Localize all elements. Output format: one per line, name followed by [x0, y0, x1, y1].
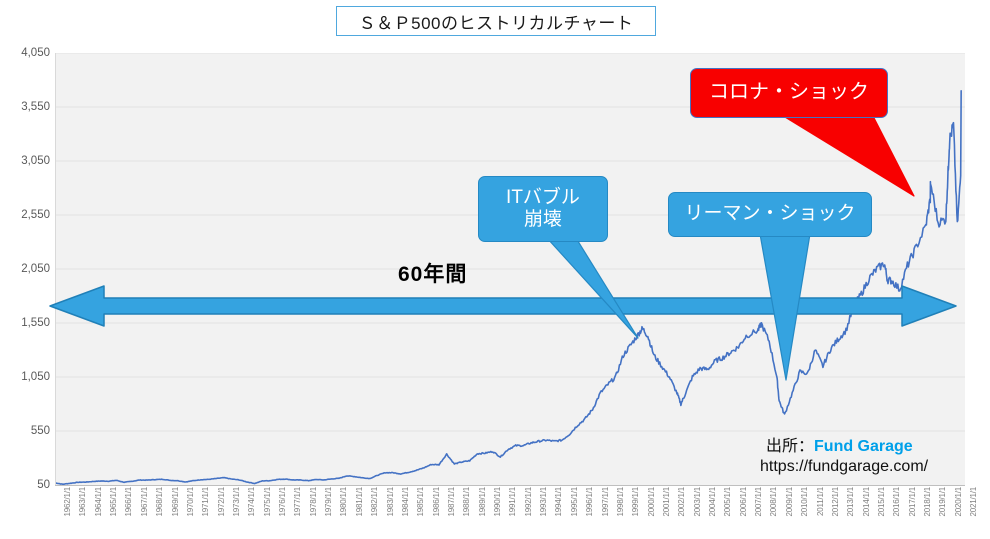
- x-axis-tick-label: 1971/1/1: [201, 487, 210, 517]
- callout-it-bubble-text: ITバブル 崩壊: [506, 187, 580, 232]
- x-axis-tick-label: 2000/1/1: [647, 487, 656, 517]
- x-axis-tick-label: 2006/1/1: [739, 487, 748, 517]
- x-axis-tick-label: 2003/1/1: [693, 487, 702, 517]
- x-axis-tick-label: 1968/1/1: [155, 487, 164, 517]
- x-axis-tick-label: 1992/1/1: [524, 487, 533, 517]
- page-title: Ｓ＆Ｐ500のヒストリカルチャート: [336, 6, 656, 36]
- callout-it-bubble-line2: 崩壊: [524, 209, 562, 230]
- y-axis-tick-label: 2,550: [2, 209, 50, 221]
- x-axis-tick-label: 1979/1/1: [324, 487, 333, 517]
- x-axis-tick-label: 2015/1/1: [877, 487, 886, 517]
- callout-lehman-text: リーマン・ショック: [684, 203, 855, 225]
- x-axis-tick-label: 2004/1/1: [708, 487, 717, 517]
- source-line: 出所：Fund Garage: [766, 432, 913, 456]
- callout-it-bubble-line1: ITバブル: [506, 187, 580, 208]
- source-prefix: 出所：: [766, 438, 814, 455]
- x-axis-tick-label: 1964/1/1: [94, 487, 103, 517]
- x-axis-tick-label: 1999/1/1: [631, 487, 640, 517]
- callout-corona: コロナ・ショック: [690, 68, 888, 118]
- x-axis-tick-label: 1962/1/1: [63, 487, 72, 517]
- x-axis-tick-label: 1988/1/1: [462, 487, 471, 517]
- x-axis-tick-label: 2009/1/1: [785, 487, 794, 517]
- x-axis-tick-label: 2010/1/1: [800, 487, 809, 517]
- y-axis-line: [55, 53, 56, 485]
- y-axis-labels: 505501,0501,5502,0502,5503,0503,5504,050: [0, 53, 50, 485]
- x-axis-tick-label: 1982/1/1: [370, 487, 379, 517]
- x-axis-tick-label: 2011/1/1: [816, 487, 825, 516]
- y-axis-tick-label: 3,050: [2, 155, 50, 167]
- sixty-year-label: 60年間: [398, 258, 467, 288]
- x-axis-tick-label: 1997/1/1: [601, 487, 610, 517]
- x-axis-tick-label: 1967/1/1: [140, 487, 149, 517]
- callout-lehman: リーマン・ショック: [668, 192, 872, 237]
- x-axis-tick-label: 1975/1/1: [263, 487, 272, 517]
- x-axis-tick-label: 1991/1/1: [508, 487, 517, 517]
- y-axis-tick-label: 4,050: [2, 47, 50, 59]
- x-axis-tick-label: 1980/1/1: [339, 487, 348, 517]
- x-axis-tick-label: 1998/1/1: [616, 487, 625, 517]
- y-axis-tick-label: 2,050: [2, 263, 50, 275]
- x-axis-tick-label: 1989/1/1: [478, 487, 487, 517]
- x-axis-tick-label: 2021/1/1: [969, 487, 978, 517]
- x-axis-labels: 1962/1/11963/1/11964/1/11965/1/11966/1/1…: [55, 487, 965, 539]
- x-axis-tick-label: 1981/1/1: [355, 487, 364, 517]
- x-axis-tick-label: 2020/1/1: [954, 487, 963, 517]
- y-axis-tick-label: 1,550: [2, 317, 50, 329]
- callout-it-bubble: ITバブル 崩壊: [478, 176, 608, 242]
- x-axis-tick-label: 1996/1/1: [585, 487, 594, 517]
- x-axis-tick-label: 2005/1/1: [723, 487, 732, 517]
- x-axis-tick-label: 1985/1/1: [416, 487, 425, 517]
- x-axis-tick-label: 1986/1/1: [432, 487, 441, 517]
- x-axis-tick-label: 2019/1/1: [938, 487, 947, 517]
- x-axis-tick-label: 2008/1/1: [769, 487, 778, 517]
- x-axis-tick-label: 1993/1/1: [539, 487, 548, 517]
- x-axis-tick-label: 2013/1/1: [846, 487, 855, 517]
- x-axis-tick-label: 1995/1/1: [570, 487, 579, 517]
- y-axis-tick-label: 550: [2, 425, 50, 437]
- x-axis-tick-label: 1994/1/1: [554, 487, 563, 517]
- x-axis-tick-label: 2001/1/1: [662, 487, 671, 517]
- x-axis-tick-label: 1987/1/1: [447, 487, 456, 517]
- x-axis-tick-label: 2007/1/1: [754, 487, 763, 517]
- x-axis-tick-label: 1972/1/1: [217, 487, 226, 517]
- x-axis-tick-label: 1974/1/1: [247, 487, 256, 517]
- y-axis-tick-label: 1,050: [2, 371, 50, 383]
- x-axis-tick-label: 2018/1/1: [923, 487, 932, 517]
- x-axis-tick-label: 1976/1/1: [278, 487, 287, 517]
- x-axis-tick-label: 1984/1/1: [401, 487, 410, 517]
- x-axis-tick-label: 2014/1/1: [862, 487, 871, 517]
- x-axis-tick-label: 1983/1/1: [386, 487, 395, 517]
- source-url: https://fundgarage.com/: [760, 458, 928, 476]
- callout-corona-text: コロナ・ショック: [709, 81, 869, 105]
- sixty-year-span-arrow: [48, 283, 958, 329]
- x-axis-tick-label: 1965/1/1: [109, 487, 118, 517]
- source-brand: Fund Garage: [814, 438, 913, 455]
- x-axis-tick-label: 1963/1/1: [78, 487, 87, 517]
- x-axis-tick-label: 2002/1/1: [677, 487, 686, 517]
- x-axis-tick-label: 1978/1/1: [309, 487, 318, 517]
- x-axis-tick-label: 1990/1/1: [493, 487, 502, 517]
- x-axis-tick-label: 2012/1/1: [831, 487, 840, 517]
- x-axis-tick-label: 1970/1/1: [186, 487, 195, 517]
- x-axis-tick-label: 2017/1/1: [908, 487, 917, 517]
- chart-root: Ｓ＆Ｐ500のヒストリカルチャート 505501,0501,5502,0502,…: [0, 0, 990, 539]
- x-axis-tick-label: 1973/1/1: [232, 487, 241, 517]
- y-axis-tick-label: 50: [2, 479, 50, 491]
- x-axis-tick-label: 1966/1/1: [124, 487, 133, 517]
- y-axis-tick-label: 3,550: [2, 101, 50, 113]
- x-axis-tick-label: 2016/1/1: [892, 487, 901, 517]
- x-axis-tick-label: 1977/1/1: [293, 487, 302, 517]
- x-axis-tick-label: 1969/1/1: [171, 487, 180, 517]
